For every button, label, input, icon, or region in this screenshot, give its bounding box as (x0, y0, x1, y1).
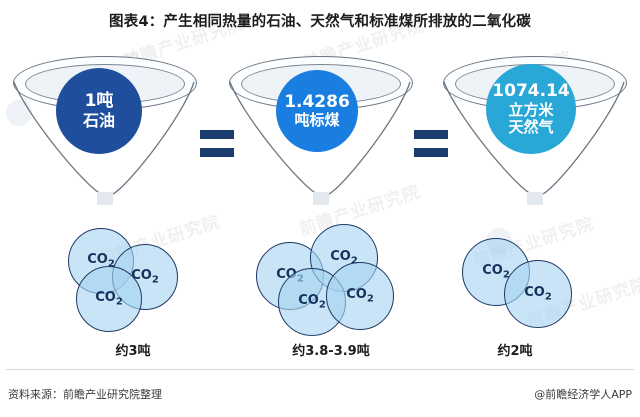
funnel-coal-value: 1.4286 (284, 93, 350, 112)
co2-bubble: CO2 (76, 266, 142, 332)
funnel-standard-coal: 1.4286 吨标煤 (228, 56, 414, 206)
co2-bubble: CO2 (504, 260, 572, 328)
co2-label: CO2 (95, 290, 123, 308)
equals-sign-2 (412, 128, 450, 164)
co2-label: CO2 (482, 263, 510, 281)
equals-bar-bottom-icon (412, 146, 450, 159)
funnel-natural-gas: 1074.14 立方米 天然气 (442, 56, 628, 206)
funnel-value-oil: 1吨 石油 (56, 68, 142, 154)
funnel-oil: 1吨 石油 (12, 56, 198, 206)
source-note: 资料来源：前瞻产业研究院整理 (8, 386, 162, 402)
funnel-gas-unit1: 立方米 (508, 102, 553, 119)
chart-title: 图表4：产生相同热量的石油、天然气和标准煤所排放的二氧化碳 (0, 10, 640, 31)
co2-group-oil-label: 约3吨 (73, 340, 193, 359)
co2-label: CO2 (346, 287, 374, 305)
co2-group-coal: CO2 CO2 CO2 CO2 (256, 224, 396, 336)
funnel-stem-icon (313, 192, 329, 205)
funnel-stem-icon (527, 192, 543, 205)
funnel-oil-value: 1吨 (85, 92, 114, 111)
equals-bar-bottom-icon (198, 146, 236, 159)
brand-note: @前瞻经济学人APP (534, 386, 632, 402)
funnel-value-natural-gas: 1074.14 立方米 天然气 (486, 64, 576, 154)
co2-group-gas-label: 约2吨 (460, 340, 570, 359)
equals-sign-1 (198, 128, 236, 164)
footer-divider (6, 369, 634, 370)
co2-bubble: CO2 (326, 262, 394, 330)
co2-group-gas: CO2 CO2 (462, 238, 582, 328)
equals-bar-top-icon (198, 128, 236, 141)
co2-group-oil: CO2 CO2 CO2 (68, 228, 198, 328)
funnel-coal-unit: 吨标煤 (294, 112, 339, 129)
co2-group-coal-label: 约3.8-3.9吨 (261, 340, 401, 359)
funnel-value-standard-coal: 1.4286 吨标煤 (276, 70, 358, 152)
funnel-gas-value: 1074.14 (492, 82, 569, 101)
funnel-gas-unit2: 天然气 (508, 119, 553, 136)
funnel-stem-icon (97, 192, 113, 205)
equals-bar-top-icon (412, 128, 450, 141)
funnel-oil-unit: 石油 (83, 112, 115, 130)
co2-label: CO2 (298, 293, 326, 311)
co2-label: CO2 (524, 285, 552, 303)
